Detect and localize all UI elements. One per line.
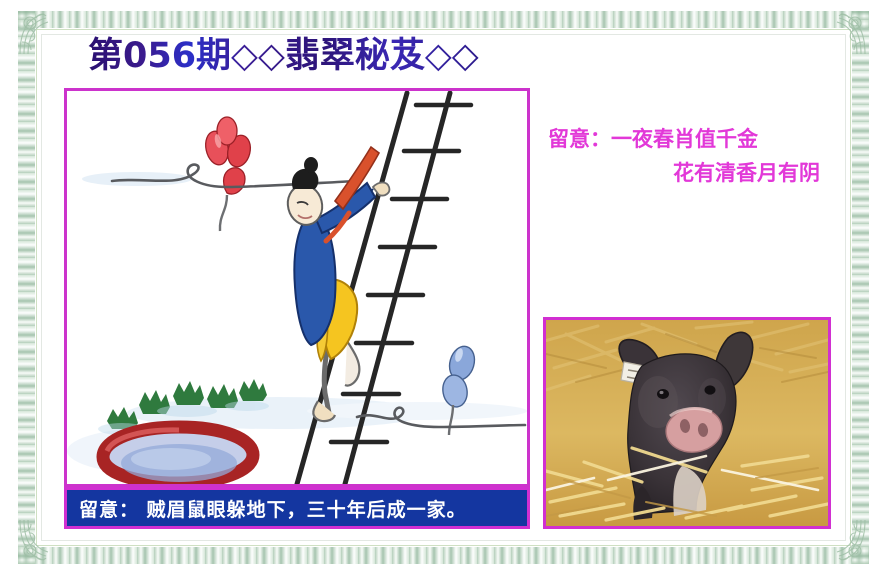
frame-band-top [18,11,869,28]
frame-band-bottom [18,547,869,564]
pig-photo-svg [546,320,828,526]
illustration-panel [64,88,530,487]
illustration-canvas [67,91,527,484]
corner-flourish-icon [819,8,871,60]
lottery-poster: 第056期◇◇翡翠秘芨◇◇ [0,0,887,582]
note-block: 留意：一夜春肖值千金 花有清香月有阴 [548,122,834,190]
frame-band-right [852,11,869,564]
photo-panel [543,317,831,529]
page-title: 第056期◇◇翡翠秘芨◇◇ [88,34,479,78]
note-line-2: 花有清香月有阴 [548,156,834,190]
illustration-svg [67,91,527,484]
red-ring-pond [99,427,255,484]
note-line-1: 留意：一夜春肖值千金 [548,122,834,156]
caption-text: 留意： 贼眉鼠眼躲地下，三十年后成一家。 [67,495,467,522]
corner-flourish-icon [14,514,66,566]
frame-band-left [18,11,35,564]
pig-photo [546,320,828,526]
corner-flourish-icon [14,8,66,60]
caption-bar: 留意： 贼眉鼠眼躲地下，三十年后成一家。 [64,487,530,529]
